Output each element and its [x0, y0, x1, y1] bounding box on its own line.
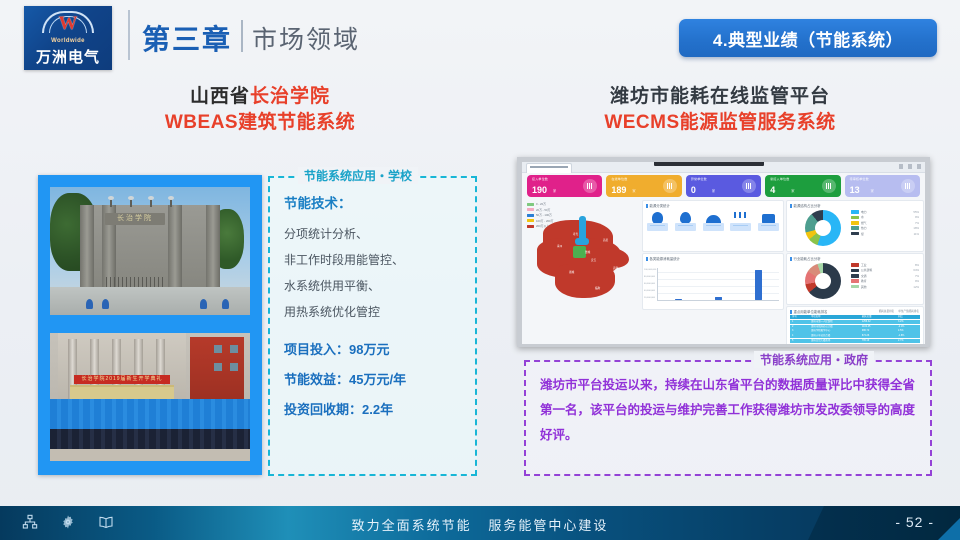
energy-electricity[interactable] [646, 211, 669, 231]
gate-sign: 长治学院 [105, 213, 165, 225]
chart-icon [663, 179, 677, 193]
title-left-school: 长治学院 [250, 86, 330, 107]
energy-gas[interactable] [702, 211, 725, 231]
browser-tab[interactable] [526, 163, 572, 173]
left-info-caption: 节能系统应用・学校 [298, 167, 418, 184]
kpi-card[interactable]: 异常单位数 0 家 [686, 175, 761, 197]
section-badge: 4.典型业绩（节能系统） [679, 19, 937, 57]
footer-slogan-1: 致力全面系统节能 [352, 518, 472, 533]
dashboard-screenshot: 接入单位数 190 家 在线单位数 189 家 异常单位数 0 家 [517, 157, 930, 347]
energy-water[interactable] [674, 211, 697, 231]
kpi-card[interactable]: 在线单位数 189 家 [606, 175, 681, 197]
photo-ceremony: 长治学院2019届新生开学典礼 [50, 333, 250, 461]
page-number: - 52 - [895, 514, 934, 530]
table-header-row: 序号 单位名称 能耗总量 同比 [790, 315, 920, 319]
logo-mark-letter: W [42, 13, 94, 35]
metric-saving: 节能效益：45万元/年 [284, 365, 461, 395]
right-info-paragraph: 潍坊市平台投运以来，持续在山东省平台的数据质量评比中获得全省第一名，该平台的投运… [526, 362, 930, 448]
right-info-box: 节能系统应用・政府 潍坊市平台投运以来，持续在山东省平台的数据质量评比中获得全省… [524, 360, 932, 476]
chart-icon [822, 179, 836, 193]
title-right-platform: 潍坊市能耗在线监管平台 [500, 84, 940, 110]
table-tools[interactable]: 能耗总量排名 单位产值能耗排名 [879, 309, 919, 313]
kpi-card[interactable]: 新接入单位数 4 家 [765, 175, 840, 197]
page-number-block: - 52 - [808, 506, 960, 540]
title-right-system: WECMS能源监管服务系统 [500, 110, 940, 136]
logo-company-name: 万洲电气 [36, 46, 100, 67]
page-title-right: 潍坊市能耗在线监管平台 WECMS能源监管服务系统 [500, 84, 940, 136]
metric-investment: 项目投入：98万元 [284, 335, 461, 365]
right-info-caption: 节能系统应用・政府 [754, 351, 874, 368]
check-icon [901, 179, 915, 193]
left-info-item: 非工作时段用能管控、 [284, 247, 461, 273]
table-row: 4 潍坊火车站综合楼 874.26 -1.8% [790, 334, 920, 338]
table-row: 5 潍坊百货大楼商场 765.19 2.7% [790, 339, 920, 343]
page-title-left: 山西省长治学院 WBEAS建筑节能系统 [40, 84, 480, 136]
table-row: 3 潍坊学院教学中心 986.70 4.5% [790, 329, 920, 333]
logo-subtext: Worldwide [51, 38, 85, 44]
chart-energy-consumption: 各类能源消耗量统计 100,000,000 80,000,000 60,000,… [642, 253, 784, 310]
footer-slogan-2: 服务能管中心建设 [488, 518, 608, 533]
left-info-box: 节能系统应用・学校 节能技术： 分项统计分析、 非工作时段用能管控、 水系统供用… [268, 176, 477, 476]
header-divider [128, 10, 130, 60]
energy-coal[interactable] [757, 211, 780, 231]
globe-w-icon: W [42, 11, 94, 37]
section-title: 市场领域 [252, 20, 360, 56]
photo-campus-gate: 长治学院 [50, 187, 250, 315]
ranking-table-panel: 重点用能单位能耗排名 能耗总量排名 单位产值能耗排名 序号 单位名称 能耗总量 … [786, 306, 924, 344]
company-logo: W Worldwide 万洲电气 [24, 6, 112, 70]
energy-type-panel: 能源分类统计 [642, 200, 784, 252]
donut-legend: 电力55% 水9% 燃气7% 热力18% 煤11% [851, 210, 919, 237]
photo-frame: 长治学院 长治学院2019届新生开学典礼 [38, 175, 262, 475]
chart-icon [583, 179, 597, 193]
footer-bar: 致力全面系统节能 服务能管中心建设 - 52 - [0, 506, 960, 540]
energy-heat[interactable] [729, 211, 752, 231]
window-controls[interactable] [899, 164, 921, 169]
donut-energy-structure: 能源结构占比分析 电力55% 水9% 燃气7% 热力18% 煤11% [786, 200, 924, 252]
kpi-card[interactable]: 接入单位数 190 家 [527, 175, 602, 197]
chart-icon [742, 179, 756, 193]
title-left-province: 山西省 [190, 86, 250, 107]
donut-chart[interactable] [805, 210, 841, 246]
metric-payback: 投资回收期：2.2年 [284, 395, 461, 425]
kpi-row: 接入单位数 190 家 在线单位数 189 家 异常单位数 0 家 [527, 175, 920, 197]
table-row: 2 潍坊市政府办公大楼 1102.45 -2.1% [790, 325, 920, 329]
chapter-title: 第三章 [142, 18, 232, 58]
kpi-card[interactable]: 待审核单位数 13 家 [845, 175, 920, 197]
slide-root: W Worldwide 万洲电气 第三章 市场领域 4.典型业绩（节能系统） 山… [0, 0, 960, 540]
table-row: 1 潍坊市第一人民医院 1256.32 3.2% [790, 320, 920, 324]
browser-url-bar[interactable] [654, 162, 764, 166]
left-info-item: 分项统计分析、 [284, 221, 461, 247]
weifang-map[interactable]: 寿光 昌邑 青州 安丘 诸城 高密 临朐 潍城 [535, 214, 631, 306]
ranking-table[interactable]: 序号 单位名称 能耗总量 同比 1 潍坊市第一人民医院 1256.32 3.2%… [790, 315, 920, 344]
left-info-item: 用热系统优化管控 [284, 299, 461, 325]
region-map-panel: 0 - 20万 20万 - 50万 50万 - 100万 100万 - 200万… [525, 200, 638, 308]
title-left-system: WBEAS建筑节能系统 [40, 110, 480, 136]
donut-legend: 工业8% 公共建筑64% 交通7% 教育9% 其他12% [851, 263, 919, 290]
donut-industry-share: 行业能耗占比分析 工业8% 公共建筑64% 交通7% 教育9% 其他12% [786, 253, 924, 305]
ceremony-banner: 长治学院2019届新生开学典礼 [74, 375, 170, 384]
left-info-item: 水系统供用平衡、 [284, 273, 461, 299]
header-divider-2 [241, 20, 243, 52]
donut-chart[interactable] [805, 263, 841, 299]
left-info-heading: 节能技术： [284, 192, 461, 212]
